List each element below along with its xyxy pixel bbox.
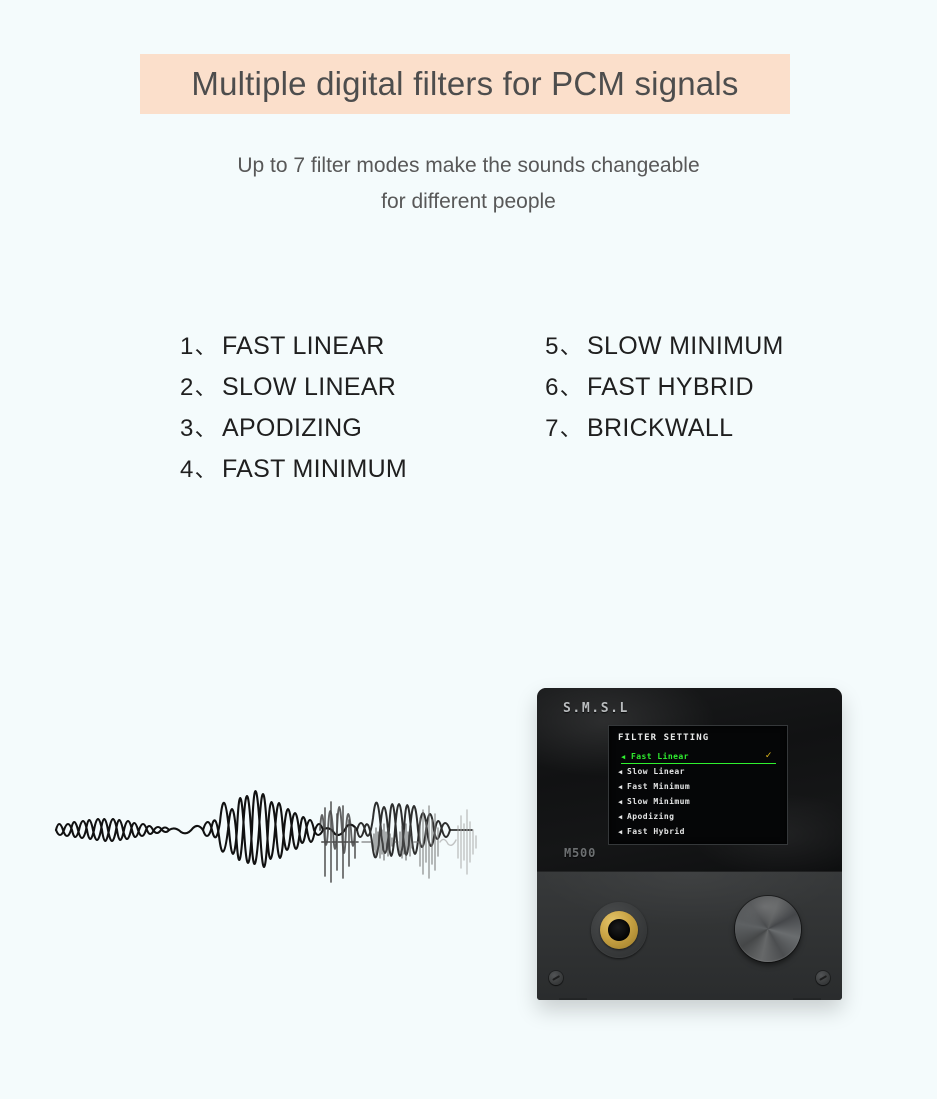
knob-highlight bbox=[735, 896, 801, 962]
panel-seam bbox=[537, 871, 842, 872]
list-item-separator: 、 bbox=[194, 416, 222, 441]
screw-icon bbox=[816, 971, 830, 985]
page-title: Multiple digital filters for PCM signals bbox=[191, 65, 738, 103]
left-arrow-icon: ◀ bbox=[618, 783, 627, 791]
list-item-number: 1 bbox=[180, 333, 194, 360]
list-item: 4、FAST MINIMUM bbox=[180, 449, 407, 490]
menu-item-label: Slow Minimum bbox=[627, 797, 690, 806]
list-item: 3、APODIZING bbox=[180, 408, 407, 449]
check-icon: ✓ bbox=[766, 750, 772, 762]
filter-mode-list: 1、FAST LINEAR 2、SLOW LINEAR 3、APODIZING … bbox=[180, 326, 820, 490]
title-banner: Multiple digital filters for PCM signals bbox=[140, 54, 790, 114]
list-item-label: APODIZING bbox=[222, 414, 362, 442]
list-item: 2、SLOW LINEAR bbox=[180, 367, 407, 408]
audio-waveform-tail bbox=[320, 780, 480, 900]
list-item-number: 4 bbox=[180, 456, 194, 483]
smsl-m500-device: S.M.S.L M500 FILTER SETTING ◀ Fast Linea… bbox=[537, 688, 842, 1008]
list-item: 7、BRICKWALL bbox=[545, 408, 784, 449]
menu-item-fast-hybrid[interactable]: ◀ Fast Hybrid bbox=[618, 824, 778, 839]
list-item-separator: 、 bbox=[194, 375, 222, 400]
headphone-jack[interactable] bbox=[591, 902, 647, 958]
list-item-label: BRICKWALL bbox=[587, 414, 733, 442]
screw-icon bbox=[549, 971, 563, 985]
left-arrow-icon: ◀ bbox=[621, 753, 630, 761]
list-item-label: FAST HYBRID bbox=[587, 373, 754, 401]
device-foot bbox=[559, 998, 587, 1000]
list-item-label: FAST MINIMUM bbox=[222, 455, 407, 483]
device-screen[interactable]: FILTER SETTING ◀ Fast Linear ✓ ◀ Slow Li… bbox=[608, 725, 788, 845]
menu-item-slow-linear[interactable]: ◀ Slow Linear bbox=[618, 764, 778, 779]
list-item: 5、SLOW MINIMUM bbox=[545, 326, 784, 367]
menu-item-apodizing[interactable]: ◀ Apodizing bbox=[618, 809, 778, 824]
filter-list-right-column: 5、SLOW MINIMUM 6、FAST HYBRID 7、BRICKWALL bbox=[545, 326, 784, 490]
list-item-separator: 、 bbox=[194, 334, 222, 359]
list-item-label: SLOW MINIMUM bbox=[587, 332, 784, 360]
left-arrow-icon: ◀ bbox=[618, 828, 627, 836]
menu-item-label: Fast Hybrid bbox=[627, 827, 685, 836]
menu-item-label: Apodizing bbox=[627, 812, 674, 821]
list-item-separator: 、 bbox=[559, 416, 587, 441]
volume-knob[interactable] bbox=[735, 896, 801, 962]
subtitle: Up to 7 filter modes make the sounds cha… bbox=[0, 148, 937, 220]
menu-item-slow-minimum[interactable]: ◀ Slow Minimum bbox=[618, 794, 778, 809]
list-item-number: 7 bbox=[545, 415, 559, 442]
list-item-number: 2 bbox=[180, 374, 194, 401]
list-item: 6、FAST HYBRID bbox=[545, 367, 784, 408]
jack-gold-ring bbox=[600, 911, 638, 949]
subtitle-line-2: for different people bbox=[0, 184, 937, 220]
menu-item-fast-linear[interactable]: ◀ Fast Linear ✓ bbox=[618, 749, 778, 764]
list-item: 1、FAST LINEAR bbox=[180, 326, 407, 367]
device-chassis: S.M.S.L M500 FILTER SETTING ◀ Fast Linea… bbox=[537, 688, 842, 1000]
menu-item-fast-minimum[interactable]: ◀ Fast Minimum bbox=[618, 779, 778, 794]
left-arrow-icon: ◀ bbox=[618, 798, 627, 806]
screen-title: FILTER SETTING bbox=[618, 733, 709, 743]
device-foot bbox=[793, 998, 821, 1000]
jack-hole bbox=[608, 919, 630, 941]
subtitle-line-1: Up to 7 filter modes make the sounds cha… bbox=[0, 148, 937, 184]
filter-list-left-column: 1、FAST LINEAR 2、SLOW LINEAR 3、APODIZING … bbox=[180, 326, 407, 490]
list-item-number: 6 bbox=[545, 374, 559, 401]
list-item-separator: 、 bbox=[559, 375, 587, 400]
left-arrow-icon: ◀ bbox=[618, 768, 627, 776]
brand-logo: S.M.S.L bbox=[563, 701, 629, 716]
menu-item-label: Fast Linear bbox=[630, 752, 689, 761]
list-item-separator: 、 bbox=[194, 457, 222, 482]
model-label: M500 bbox=[564, 846, 596, 860]
list-item-label: SLOW LINEAR bbox=[222, 373, 396, 401]
list-item-label: FAST LINEAR bbox=[222, 332, 385, 360]
menu-item-label: Fast Minimum bbox=[627, 782, 690, 791]
menu-item-label: Slow Linear bbox=[627, 767, 685, 776]
list-item-number: 5 bbox=[545, 333, 559, 360]
list-item-separator: 、 bbox=[559, 334, 587, 359]
list-item-number: 3 bbox=[180, 415, 194, 442]
left-arrow-icon: ◀ bbox=[618, 813, 627, 821]
filter-setting-menu[interactable]: ◀ Fast Linear ✓ ◀ Slow Linear ◀ Fast Min… bbox=[618, 749, 778, 839]
